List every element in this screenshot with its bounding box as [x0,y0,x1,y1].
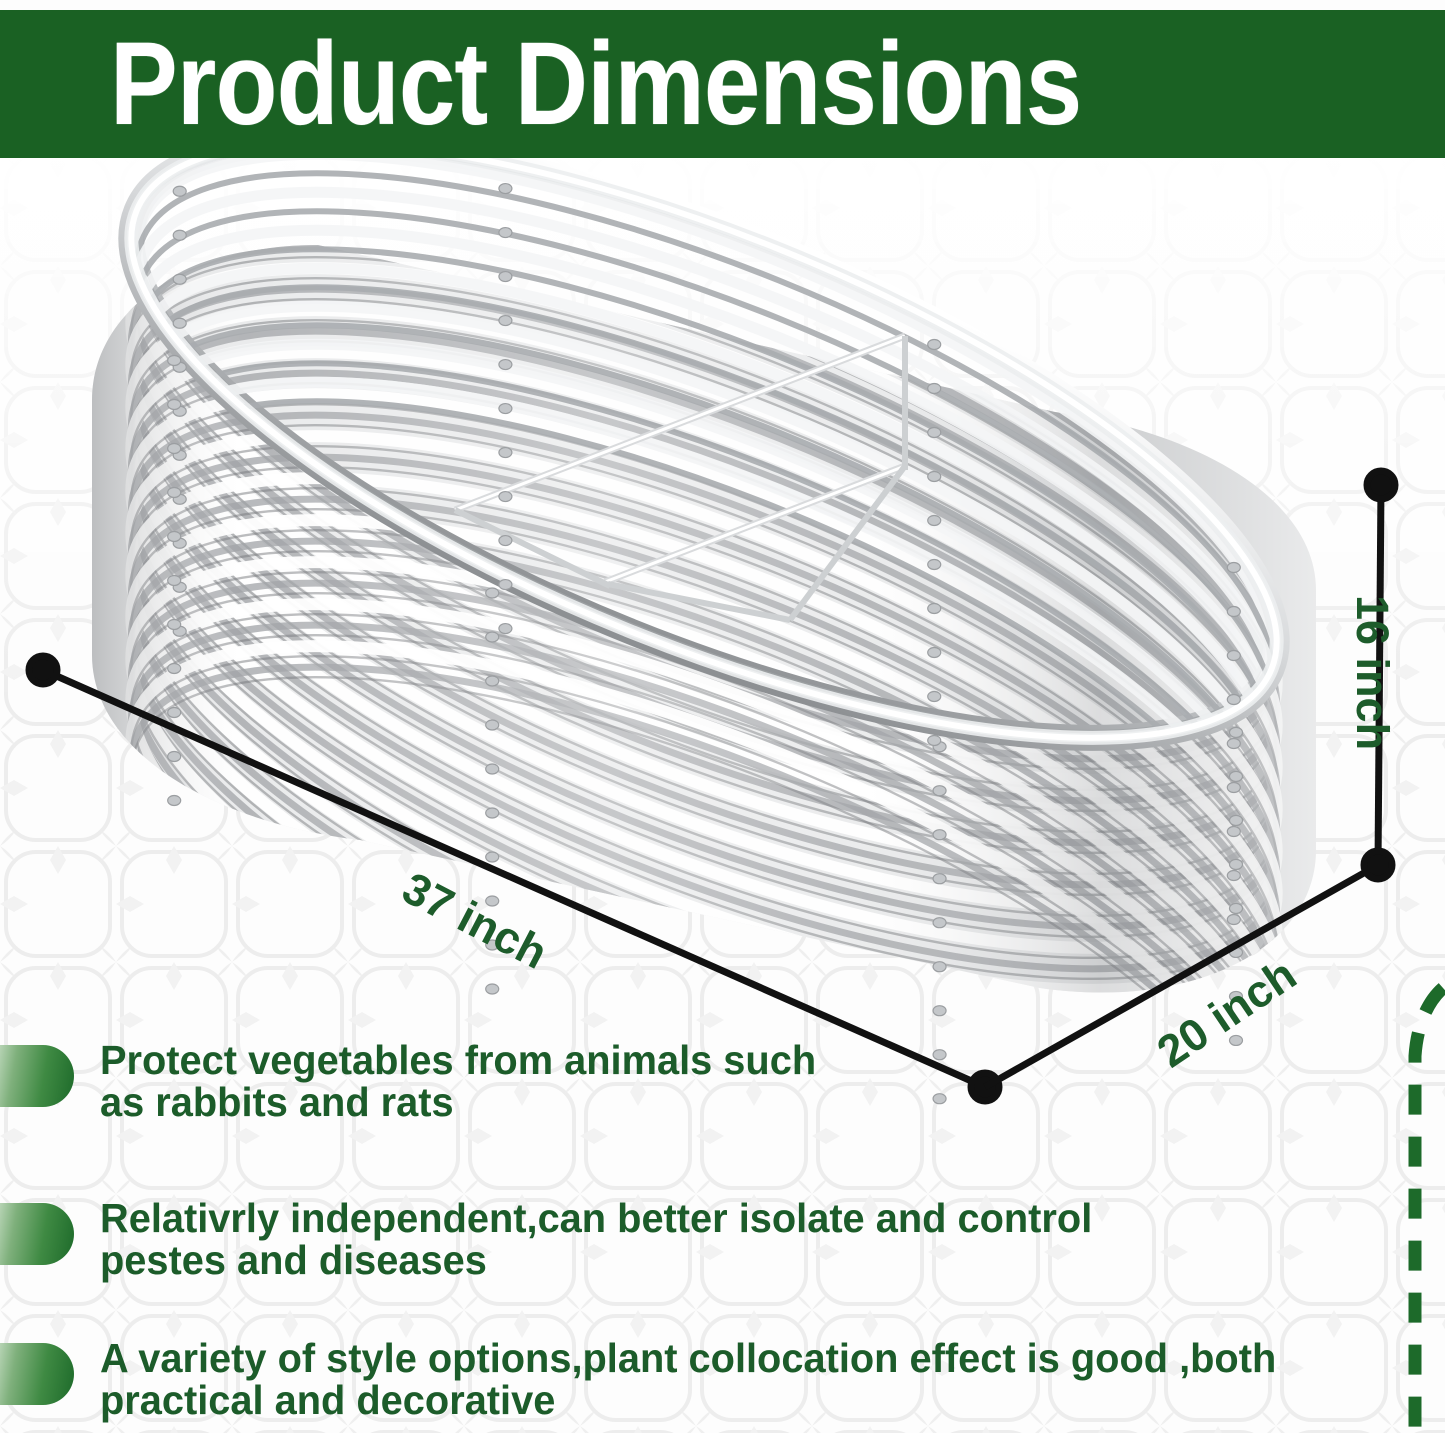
feature-text-line1: Protect vegetables from animals such [100,1040,816,1082]
feature-text-line2: as rabbits and rats [100,1082,816,1124]
header-banner: Product Dimensions [0,10,1445,158]
dimension-label-height: 16 inch [1346,595,1398,750]
feature-item: Relativrly independent,can better isolat… [0,1198,1123,1282]
feature-item: A variety of style options,plant colloca… [0,1338,1313,1422]
bullet-pill-icon [0,1203,74,1265]
garden-bed-body [60,150,1360,1150]
feature-text-line1: Relativrly independent,can better isolat… [100,1198,1092,1240]
feature-text: Relativrly independent,can better isolat… [100,1198,1092,1282]
feature-text-line2: practical and decorative [100,1380,1276,1422]
feature-text: A variety of style options,plant colloca… [100,1338,1276,1422]
page-title: Product Dimensions [110,25,1081,143]
bullet-pill-icon [0,1343,74,1405]
feature-text: Protect vegetables from animals such as … [100,1040,816,1124]
bullet-pill-icon [0,1045,74,1107]
feature-item: Protect vegetables from animals such as … [0,1040,838,1124]
feature-text-line1: A variety of style options,plant colloca… [100,1338,1276,1380]
feature-text-line2: pestes and diseases [100,1240,1092,1282]
